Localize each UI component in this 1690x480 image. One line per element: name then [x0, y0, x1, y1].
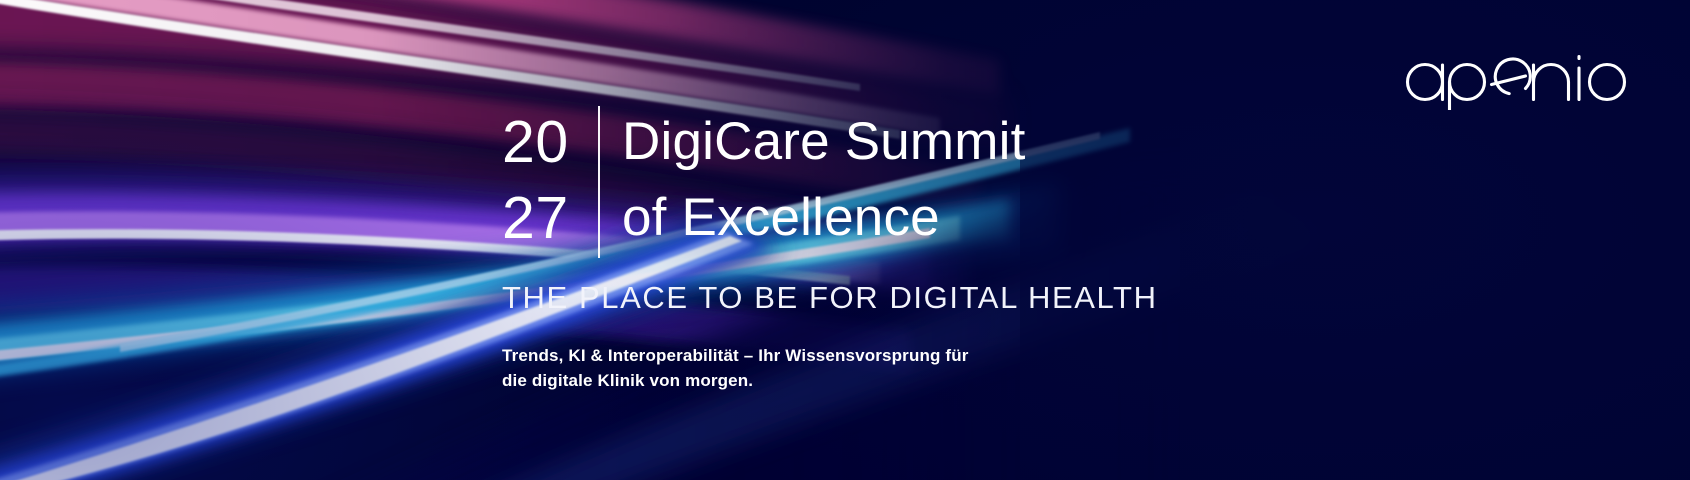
event-description: Trends, KI & Interoperabilität – Ihr Wis…	[502, 343, 1262, 393]
title-divider-rule	[598, 106, 600, 258]
event-tagline: THE PLACE TO BE FOR DIGITAL HEALTH	[502, 279, 1262, 317]
event-banner: 20 27 DigiCare Summit of Excellence THE …	[0, 0, 1690, 480]
banner-content: 20 27 DigiCare Summit of Excellence THE …	[502, 104, 1262, 393]
event-year: 20 27	[502, 104, 590, 256]
title-row: 20 27 DigiCare Summit of Excellence	[502, 104, 1262, 258]
apenio-logo	[1402, 38, 1628, 110]
page-title: DigiCare Summit of Excellence	[622, 104, 1026, 256]
